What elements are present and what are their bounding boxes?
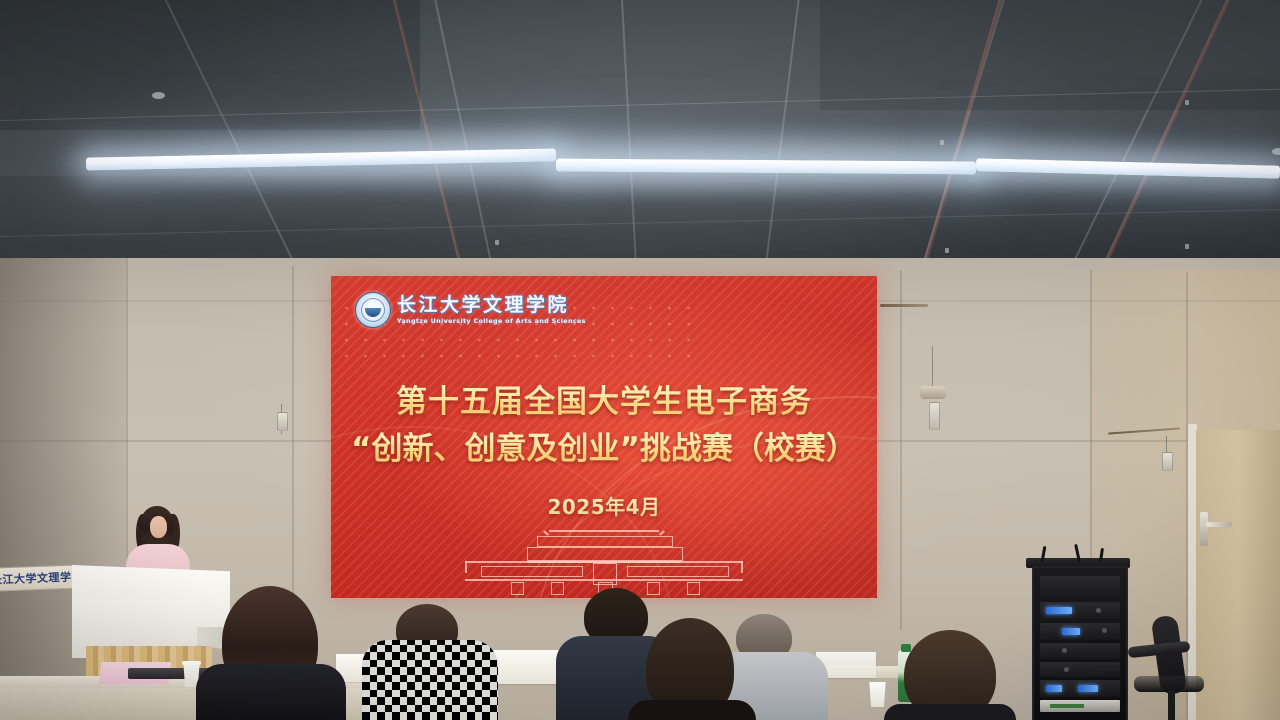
ceiling-fixture-dot xyxy=(495,240,499,245)
audience-torso-plaid xyxy=(362,640,498,720)
rack-unit xyxy=(1040,643,1120,659)
audience-torso xyxy=(884,704,1016,720)
rack-led-panel xyxy=(1062,628,1080,635)
rack-unit xyxy=(1040,623,1120,640)
paper-cup xyxy=(868,682,887,707)
university-name-en: Yangtze University College of Arts and S… xyxy=(397,318,586,324)
bottle-cap xyxy=(901,644,911,652)
wall-seam xyxy=(900,270,902,630)
rack-led-panel xyxy=(1078,685,1098,692)
ceiling xyxy=(0,0,1280,286)
av-equipment-rack xyxy=(1032,566,1128,720)
rack-unit xyxy=(1040,662,1120,677)
ceiling-panel-shadow xyxy=(820,0,1280,110)
rack-unit xyxy=(1040,700,1120,712)
ceiling-fixture-dot xyxy=(1185,244,1189,249)
audience-torso xyxy=(196,664,346,720)
stage-banner: 长江大学文理学院 Yangtze University College of A… xyxy=(331,276,877,598)
ceiling-fixture-dot xyxy=(940,140,944,145)
rack-green-pcb xyxy=(1050,704,1084,708)
wall-seam xyxy=(292,266,294,626)
rack-led-panel xyxy=(1046,685,1062,692)
university-seal-icon xyxy=(355,292,391,328)
rack-unit xyxy=(1040,602,1120,620)
university-logo: 长江大学文理学院 Yangtze University College of A… xyxy=(355,292,586,328)
hanging-wire xyxy=(932,346,933,388)
university-name-cn: 长江大学文理学院 xyxy=(397,296,586,315)
ceiling-fixture-dot xyxy=(1185,100,1189,105)
smoke-detector-icon xyxy=(1272,148,1280,155)
banner-title-line2: “创新、创意及创业”挑战赛（校赛） xyxy=(331,423,877,468)
rack-knob-icon xyxy=(1102,628,1107,633)
wall-hook-fixture xyxy=(920,386,946,399)
ceiling-fixture-dot xyxy=(945,248,949,253)
rack-unit xyxy=(1040,576,1120,598)
wall-plaque-text: 长江大学文理学院 xyxy=(0,568,78,588)
smoke-detector-icon xyxy=(152,92,165,99)
paper-cup-lip xyxy=(182,661,201,665)
photo-scene: 长江大学文理学院 长江大学文理学院 Yangtze University Col… xyxy=(0,0,1280,720)
chair-post xyxy=(1168,690,1175,720)
speaker-face xyxy=(150,516,167,538)
rack-knob-icon xyxy=(1096,608,1101,613)
wall-plaque: 长江大学文理学院 xyxy=(0,564,78,591)
door-lock-escutcheon xyxy=(1200,512,1208,546)
ceiling-panel-shadow xyxy=(0,0,420,130)
banner-title-line1: 第十五届全国大学生电子商务 xyxy=(331,376,877,421)
office-chair xyxy=(1128,616,1214,720)
wall-mounted-rod xyxy=(880,304,928,307)
rack-unit xyxy=(1040,680,1120,697)
rack-led-panel xyxy=(1046,607,1072,614)
wall-switch-plate xyxy=(277,412,288,431)
tiananmen-gate-icon xyxy=(465,530,743,590)
door-handle-icon[interactable] xyxy=(1206,522,1232,527)
wall-switch-plate xyxy=(1162,452,1173,471)
wall-switch-plate xyxy=(929,402,940,430)
banner-date: 2025年4月 xyxy=(331,491,877,520)
audience-torso xyxy=(628,700,756,720)
university-logo-text: 长江大学文理学院 Yangtze University College of A… xyxy=(397,296,586,324)
rack-knob-icon xyxy=(1062,648,1067,653)
rack-knob-icon xyxy=(1064,667,1069,672)
